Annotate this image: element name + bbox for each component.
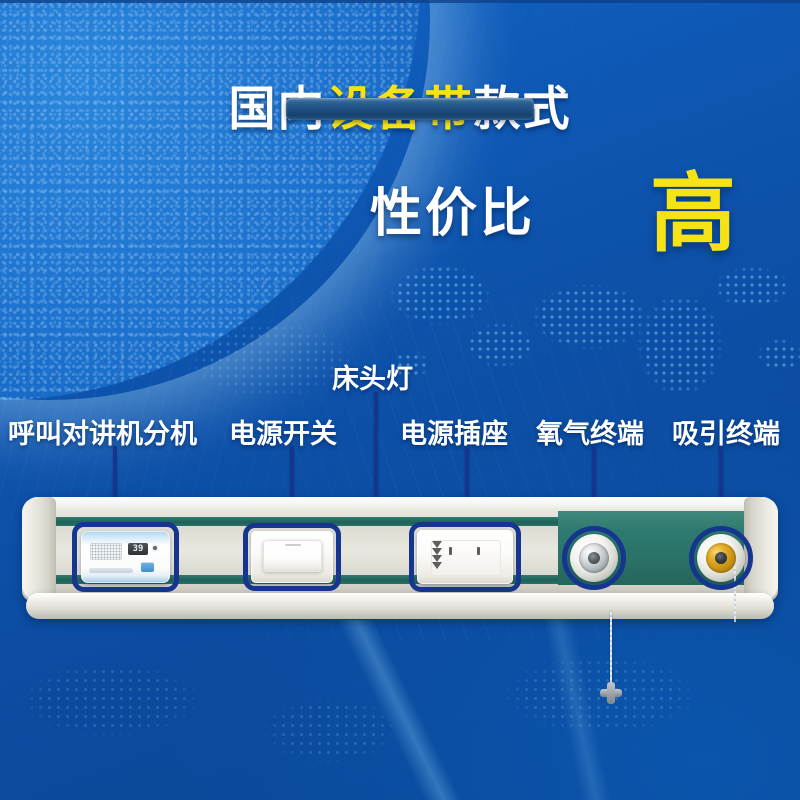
socket-pin-live-right	[477, 547, 480, 555]
indicator-led-icon	[153, 546, 157, 550]
oxygen-terminal-port-icon	[588, 552, 600, 564]
panel-top-highlight	[22, 497, 778, 511]
pull-cord-secondary[interactable]	[734, 566, 736, 622]
light-beam-2	[300, 600, 800, 800]
panel-lower-rail	[26, 593, 774, 619]
callout-label-suction: 吸引终端	[672, 412, 780, 451]
bed-head-lamp	[286, 98, 534, 120]
speaker-grille-icon	[90, 543, 122, 560]
callout-label-bedlamp: 床头灯	[332, 357, 413, 396]
headline-line-2-block: 性价比 高	[0, 165, 800, 247]
socket-pin-angled-1	[432, 541, 442, 548]
power-switch-rocker[interactable]	[263, 540, 322, 572]
top-edge-line	[0, 0, 800, 3]
nurse-call-intercom-unit[interactable]: 39	[81, 531, 170, 583]
panel-end-cap-left	[22, 497, 56, 601]
callout-label-intercom: 呼叫对讲机分机	[8, 412, 197, 451]
headline-text-xingjiabi: 性价比	[370, 171, 535, 246]
oxygen-terminal[interactable]	[570, 534, 618, 582]
callout-label-switch: 电源开关	[229, 412, 337, 451]
callout-label-oxygen: 氧气终端	[536, 412, 644, 451]
power-switch-plate[interactable]	[251, 531, 333, 583]
callout-label-socket: 电源插座	[400, 412, 508, 451]
power-socket-plate[interactable]	[417, 530, 513, 584]
intercom-mic-slot	[89, 568, 133, 573]
intercom-call-button[interactable]	[141, 562, 154, 572]
headline-text-gao: 高	[650, 143, 736, 268]
oxygen-terminal-core	[579, 543, 609, 573]
power-socket-face[interactable]	[431, 540, 501, 576]
socket-pin-angled-2	[432, 548, 442, 555]
suction-terminal[interactable]	[697, 534, 745, 582]
pull-cord-handle[interactable]	[600, 682, 622, 704]
product-banner: 国内设备带款式 性价比 高 呼叫对讲机分机 电源开关 床头灯 电源插座 氧气终端…	[0, 0, 800, 800]
intercom-display: 39	[128, 543, 148, 555]
dotted-world-map	[380, 225, 800, 440]
socket-pin-angled-3	[432, 555, 442, 562]
socket-pin-angled-4	[432, 562, 442, 569]
switch-notch-icon	[285, 544, 301, 546]
suction-terminal-core	[706, 543, 736, 573]
pull-cord[interactable]	[610, 612, 612, 686]
suction-terminal-port-icon	[715, 552, 727, 564]
socket-pin-live-left	[449, 547, 452, 555]
panel-end-cap-right	[744, 497, 778, 601]
